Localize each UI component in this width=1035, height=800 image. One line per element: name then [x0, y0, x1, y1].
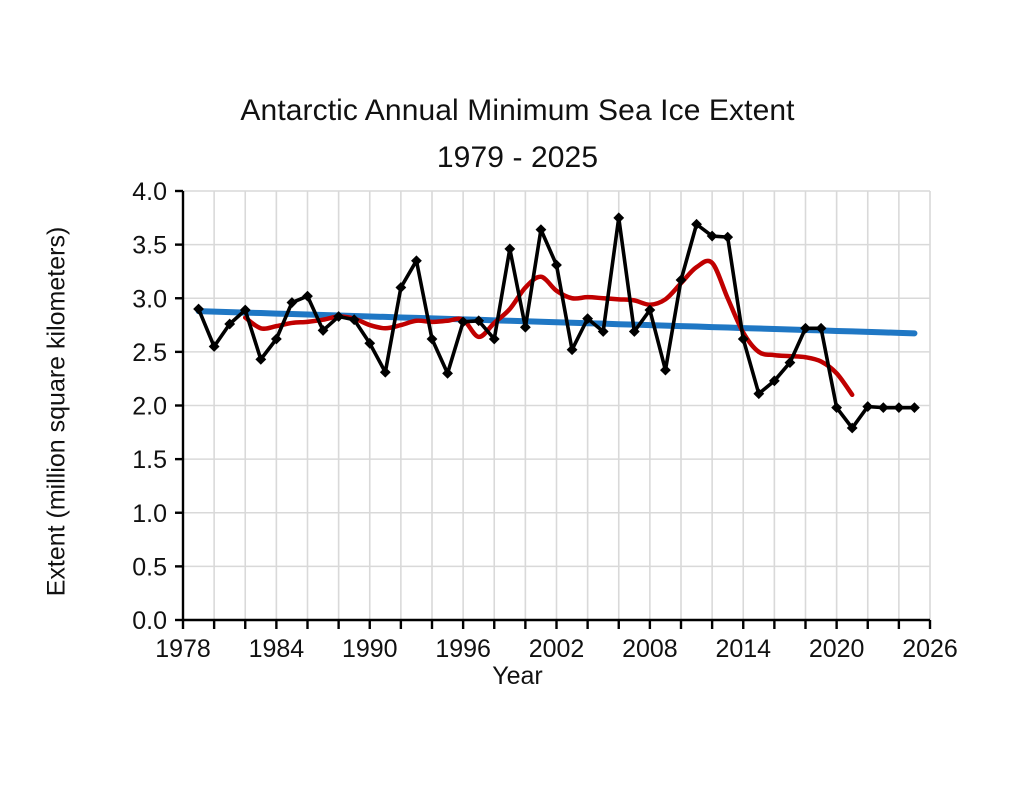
y-tick-label: 4.0	[132, 178, 167, 206]
y-tick-label: 2.5	[132, 339, 167, 367]
chart-container: Antarctic Annual Minimum Sea Ice Extent1…	[0, 0, 1035, 800]
axis-tick-labels: 0.00.51.01.52.02.53.03.54.01978198419901…	[132, 178, 958, 663]
y-tick-label: 1.5	[132, 446, 167, 474]
data-point-marker	[442, 368, 453, 379]
x-tick-label: 1996	[435, 635, 491, 663]
gridlines	[183, 191, 930, 620]
x-tick-label: 2014	[715, 635, 771, 663]
x-tick-label: 1984	[249, 635, 305, 663]
data-point-marker	[893, 402, 904, 413]
data-point-marker	[613, 212, 624, 223]
data-point-marker	[427, 334, 438, 345]
data-point-marker	[551, 260, 562, 271]
data-point-marker	[302, 291, 313, 302]
x-tick-label: 2026	[902, 635, 958, 663]
data-point-marker	[878, 402, 889, 413]
x-tick-label: 2008	[622, 635, 678, 663]
y-tick-label: 1.0	[132, 500, 167, 528]
x-tick-label: 2020	[809, 635, 865, 663]
x-tick-label: 1978	[155, 635, 211, 663]
plot-area: 0.00.51.01.52.02.53.03.54.01978198419901…	[0, 0, 1035, 800]
y-tick-label: 2.0	[132, 393, 167, 421]
y-tick-label: 0.0	[132, 607, 167, 635]
x-tick-label: 2002	[529, 635, 585, 663]
y-tick-label: 3.5	[132, 232, 167, 260]
y-tick-label: 3.0	[132, 285, 167, 313]
x-tick-label: 1990	[342, 635, 398, 663]
data-point-marker	[909, 402, 920, 413]
y-tick-label: 0.5	[132, 553, 167, 581]
data-point-marker	[660, 365, 671, 376]
data-point-marker	[722, 232, 733, 243]
data-point-marker	[536, 224, 547, 235]
